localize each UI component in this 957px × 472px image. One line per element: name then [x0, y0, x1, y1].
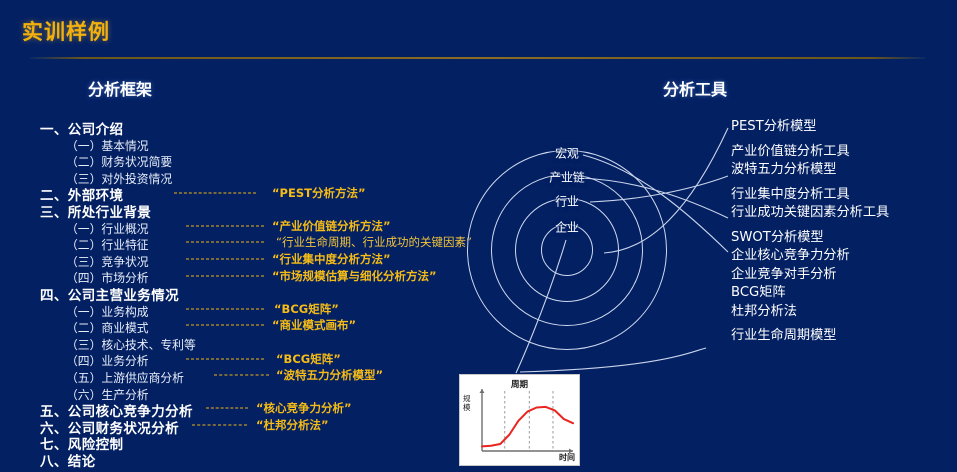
title-divider [30, 57, 925, 59]
chart-curve [482, 407, 573, 446]
outline-row: 三、所处行业背景 [34, 201, 464, 218]
outline-item-method: “行业生命周期、行业成功的关键因素” [276, 234, 472, 250]
tool-item: 波特五力分析模型 [731, 161, 957, 180]
tool-item: BCG矩阵 [731, 284, 957, 303]
analysis-framework-outline: 一、公司介绍（一）基本情况（二）财务状况简要（三）对外投资情况二、外部环境“PE… [34, 118, 464, 466]
outline-row: （五）上游供应商分析“波特五力分析模型” [34, 367, 464, 384]
outline-row: 五、公司核心竞争力分析“核心竞争力分析” [34, 400, 464, 417]
outline-leader-dashes [186, 275, 264, 276]
chart-plot-area [460, 375, 581, 467]
outline-item-method: “市场规模估算与细化分析方法” [272, 268, 437, 284]
outline-row: （三）核心技术、专利等 [34, 334, 464, 351]
ring-label: 产业链 [549, 169, 584, 186]
chart-x-arrow [569, 449, 573, 454]
left-column-heading: 分析框架 [88, 76, 152, 100]
outline-row: 七、风险控制 [34, 433, 464, 450]
tool-item: SWOT分析模型 [731, 229, 957, 248]
outline-leader-dashes [186, 308, 264, 309]
outline-leader-dashes [186, 259, 264, 260]
tool-item: PEST分析模型 [731, 118, 957, 137]
tool-group: 行业集中度分析工具行业成功关键因素分析工具 [731, 186, 957, 223]
outline-leader-dashes [206, 408, 248, 409]
tool-item: 企业竞争对手分析 [731, 266, 957, 285]
outline-item-method: “行业集中度分析方法” [272, 251, 391, 267]
outline-row: 四、公司主营业务情况 [34, 284, 464, 301]
tool-item: 行业成功关键因素分析工具 [731, 204, 957, 223]
tool-item: 行业集中度分析工具 [731, 186, 957, 205]
ring-label: 行业 [555, 193, 579, 210]
outline-row: （二）财务状况简要 [34, 151, 464, 168]
tool-group: PEST分析模型 [731, 118, 957, 137]
outline-row: （二）商业模式“商业模式画布” [34, 317, 464, 334]
tool-group: SWOT分析模型企业核心竞争力分析企业竞争对手分析BCG矩阵杜邦分析法 [731, 229, 957, 322]
page-title: 实训样例 [22, 16, 110, 46]
analysis-tools-list: PEST分析模型产业价值链分析工具波特五力分析模型行业集中度分析工具行业成功关键… [731, 118, 957, 352]
chart-y-arrow [480, 389, 485, 393]
outline-row: 二、外部环境“PEST分析方法” [34, 184, 464, 201]
outline-row: （六）生产分析 [34, 384, 464, 401]
outline-item-method: “杜邦分析法” [256, 417, 329, 433]
tool-group: 行业生命周期模型 [731, 327, 957, 346]
outline-item-method: “波特五力分析模型” [276, 367, 383, 383]
outline-item-label: 八、结论 [34, 454, 96, 470]
slide-canvas: 实训样例 分析框架 分析工具 一、公司介绍（一）基本情况（二）财务状况简要（三）… [0, 0, 957, 472]
outline-row: 八、结论 [34, 450, 464, 467]
tool-item: 产业价值链分析工具 [731, 143, 957, 162]
outline-row: （三）竞争状况“行业集中度分析方法” [34, 251, 464, 268]
outline-item-method: “核心竞争力分析” [256, 400, 352, 416]
outline-row: （四）市场分析“市场规模估算与细化分析方法” [34, 267, 464, 284]
tool-item: 行业生命周期模型 [731, 327, 957, 346]
outline-item-method: “PEST分析方法” [272, 185, 366, 201]
outline-row: （四）业务分析“BCG矩阵” [34, 350, 464, 367]
outline-row: （一）业务构成“BCG矩阵” [34, 301, 464, 318]
ring-label: 企业 [555, 219, 579, 236]
tool-item: 杜邦分析法 [731, 303, 957, 322]
outline-leader-dashes [174, 192, 256, 193]
outline-row: 六、公司财务状况分析“杜邦分析法” [34, 417, 464, 434]
outline-row: （三）对外投资情况 [34, 168, 464, 185]
outline-item-method: “BCG矩阵” [276, 351, 341, 367]
outline-leader-dashes [186, 242, 264, 243]
outline-item-method: “产业价值链分析方法” [272, 218, 391, 234]
outline-leader-dashes [186, 325, 264, 326]
outline-row: （二）行业特征“行业生命周期、行业成功的关键因素” [34, 234, 464, 251]
outline-leader-dashes [214, 375, 269, 376]
outline-leader-dashes [186, 225, 264, 226]
outline-leader-dashes [186, 358, 264, 359]
outline-item-method: “BCG矩阵” [274, 301, 339, 317]
right-column-heading: 分析工具 [663, 76, 727, 100]
outline-leader-dashes [192, 424, 247, 425]
outline-row: 一、公司介绍 [34, 118, 464, 135]
outline-row: （一）基本情况 [34, 135, 464, 152]
tool-item: 企业核心竞争力分析 [731, 247, 957, 266]
outline-row: （一）行业概况“产业价值链分析方法” [34, 218, 464, 235]
concentric-rings-diagram: 宏观产业链行业企业 [455, 100, 745, 400]
industry-lifecycle-chart: 周期 规模 时间 [459, 374, 580, 466]
tool-group: 产业价值链分析工具波特五力分析模型 [731, 143, 957, 180]
outline-item-method: “商业模式画布” [272, 317, 356, 333]
ring-label: 宏观 [555, 145, 579, 162]
